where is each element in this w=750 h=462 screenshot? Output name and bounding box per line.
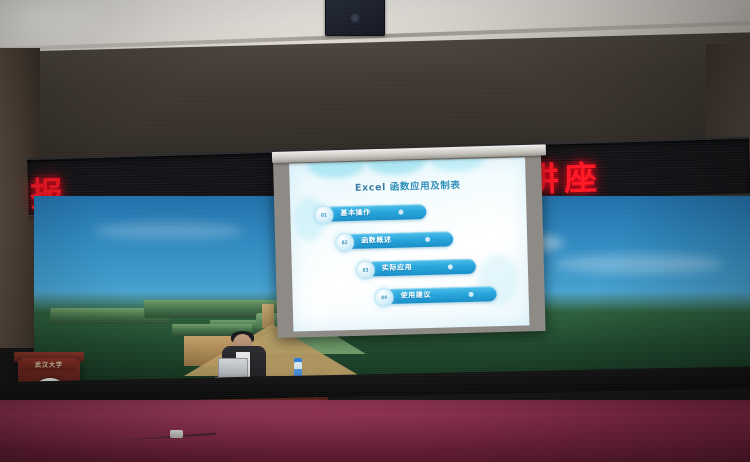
lecture-hall-photo: 报 讲座 — [0, 0, 750, 462]
slide-item-01[interactable]: 01 基本操作 — [314, 204, 426, 222]
slide-item-dot-icon — [425, 237, 430, 242]
speaker-cone-icon — [350, 13, 360, 23]
slide-splash-decoration — [429, 157, 486, 172]
slide-item-label: 实际应用 — [382, 262, 413, 273]
slide-title-en: Excel — [355, 182, 390, 194]
slide-item-dot-icon — [469, 292, 474, 297]
mural-cloud — [94, 222, 244, 240]
laptop-screen[interactable] — [218, 358, 248, 379]
slide-item-label: 使用建议 — [400, 290, 431, 301]
presentation-slide: Excel 函数应用及制表 01 基本操作 02 函数概述 03 实际应用 — [289, 157, 529, 331]
slide-item-04[interactable]: 04 使用建议 — [374, 286, 496, 304]
podium-nameplate: 武汉大学 — [22, 358, 76, 371]
slide-title-cn: 函数应用及制表 — [390, 180, 461, 193]
slide-item-number: 02 — [335, 233, 354, 252]
slide-item-02[interactable]: 02 函数概述 — [335, 231, 453, 249]
power-plug — [170, 430, 183, 438]
projection-screen[interactable]: Excel 函数应用及制表 01 基本操作 02 函数概述 03 实际应用 — [273, 153, 546, 338]
ceiling-speaker — [325, 0, 385, 36]
slide-item-number: 03 — [356, 260, 375, 279]
slide-item-03[interactable]: 03 实际应用 — [356, 259, 476, 277]
slide-item-label: 函数概述 — [361, 235, 392, 246]
stage-floor-sheen — [0, 400, 750, 462]
slide-item-number: 01 — [314, 205, 333, 224]
slide-item-dot-icon — [448, 264, 453, 269]
mural-cloud — [554, 254, 724, 274]
slide-item-number: 04 — [374, 288, 393, 307]
slide-title: Excel 函数应用及制表 — [290, 175, 526, 195]
slide-item-label: 基本操作 — [340, 207, 371, 218]
